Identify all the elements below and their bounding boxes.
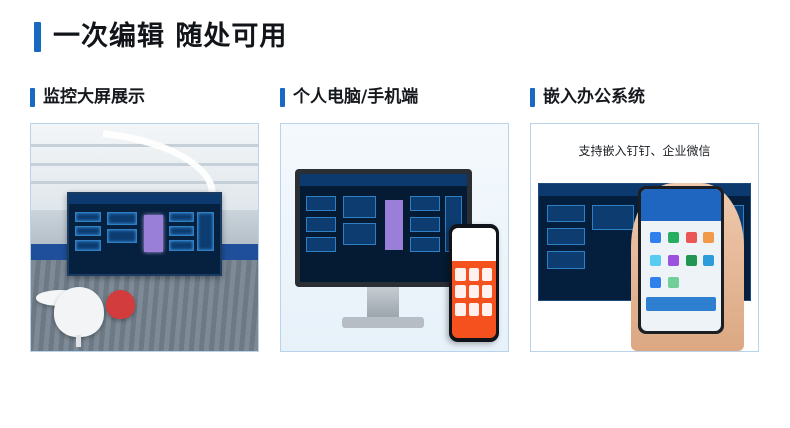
app-icon bbox=[668, 255, 679, 266]
dashboard-panel bbox=[169, 240, 195, 250]
mobile-phone bbox=[638, 186, 724, 334]
dashboard-panel bbox=[169, 212, 195, 222]
column-accent-bar bbox=[530, 88, 535, 107]
dashboard-panel bbox=[197, 212, 214, 251]
monitor-screen bbox=[300, 174, 467, 282]
mobile-phone bbox=[449, 224, 499, 342]
video-wall-screen bbox=[67, 192, 221, 276]
app-icon bbox=[703, 232, 714, 243]
dashboard-panel bbox=[306, 217, 336, 232]
dashboard-panel bbox=[592, 205, 634, 231]
hand-holding-phone bbox=[631, 183, 745, 351]
app-icon bbox=[668, 232, 679, 243]
column-heading-2: 个人电脑/手机端 bbox=[280, 88, 418, 107]
app-tile bbox=[469, 303, 480, 316]
chair-stem bbox=[76, 335, 81, 347]
title-accent-bar bbox=[34, 22, 41, 52]
dashboard-panel bbox=[343, 196, 376, 218]
3d-rack-graphic bbox=[144, 215, 162, 252]
dashboard-panel bbox=[343, 223, 376, 245]
app-tile bbox=[469, 285, 480, 298]
screen-header bbox=[300, 174, 467, 186]
app-tile bbox=[482, 285, 493, 298]
control-room-photo bbox=[31, 124, 258, 351]
office-chair bbox=[54, 287, 104, 337]
pc-mobile-photo bbox=[281, 124, 508, 351]
monitor-base bbox=[342, 317, 424, 328]
app-icon bbox=[686, 255, 697, 266]
app-tile bbox=[455, 303, 466, 316]
app-tile bbox=[455, 268, 466, 281]
dashboard-panel bbox=[107, 212, 137, 226]
dashboard-panel bbox=[306, 196, 336, 211]
3d-rack-graphic bbox=[385, 200, 403, 250]
phone-bottom-banner bbox=[646, 297, 717, 311]
column-heading-1: 监控大屏展示 bbox=[30, 88, 145, 107]
page-title: 一次编辑 随处可用 bbox=[34, 22, 287, 52]
dashboard-panel bbox=[75, 240, 101, 250]
app-icon bbox=[703, 255, 714, 266]
dashboard-panel bbox=[547, 251, 585, 268]
dashboard-panel bbox=[410, 217, 440, 232]
office-embed-photo: 支持嵌入钉钉、企业微信 bbox=[531, 124, 758, 351]
column-heading-3-text: 嵌入办公系统 bbox=[543, 88, 645, 107]
dashboard-panel bbox=[547, 228, 585, 245]
dashboard-panel bbox=[306, 237, 336, 252]
column-accent-bar bbox=[280, 88, 285, 107]
column-heading-1-text: 监控大屏展示 bbox=[43, 88, 145, 107]
app-icon bbox=[650, 255, 661, 266]
app-tile bbox=[455, 285, 466, 298]
app-icon bbox=[686, 232, 697, 243]
dashboard-panel bbox=[75, 212, 101, 222]
app-tile bbox=[469, 268, 480, 281]
app-icon bbox=[650, 277, 661, 288]
app-icon bbox=[668, 277, 679, 288]
phone-app-header bbox=[452, 228, 496, 261]
office-chair-red bbox=[106, 290, 136, 320]
page-title-text: 一次编辑 随处可用 bbox=[53, 22, 287, 52]
desktop-monitor bbox=[295, 169, 472, 287]
app-icon bbox=[650, 232, 661, 243]
dashboard-panel bbox=[169, 226, 195, 236]
phone-app-header bbox=[641, 189, 721, 220]
column-heading-2-text: 个人电脑/手机端 bbox=[293, 88, 418, 107]
phone-screen bbox=[452, 228, 496, 338]
slide-root: 一次编辑 随处可用 监控大屏展示 个人电脑/手机端 嵌入办公系统 bbox=[0, 0, 790, 428]
video-wall-screen-header bbox=[69, 194, 219, 204]
office-embed-caption: 支持嵌入钉钉、企业微信 bbox=[531, 142, 758, 159]
phone-screen bbox=[641, 189, 721, 331]
image-card-pc-mobile bbox=[280, 123, 509, 352]
app-tile bbox=[482, 303, 493, 316]
column-accent-bar bbox=[30, 88, 35, 107]
dashboard-panel bbox=[107, 229, 137, 243]
dashboard-panel bbox=[410, 237, 440, 252]
dashboard-panel bbox=[547, 205, 585, 222]
column-heading-3: 嵌入办公系统 bbox=[530, 88, 645, 107]
app-tile bbox=[482, 268, 493, 281]
image-card-monitoring-wall bbox=[30, 123, 259, 352]
dashboard-panel bbox=[75, 226, 101, 236]
image-card-office-embed: 支持嵌入钉钉、企业微信 bbox=[530, 123, 759, 352]
monitor-stand bbox=[367, 287, 399, 319]
dashboard-panel bbox=[410, 196, 440, 211]
